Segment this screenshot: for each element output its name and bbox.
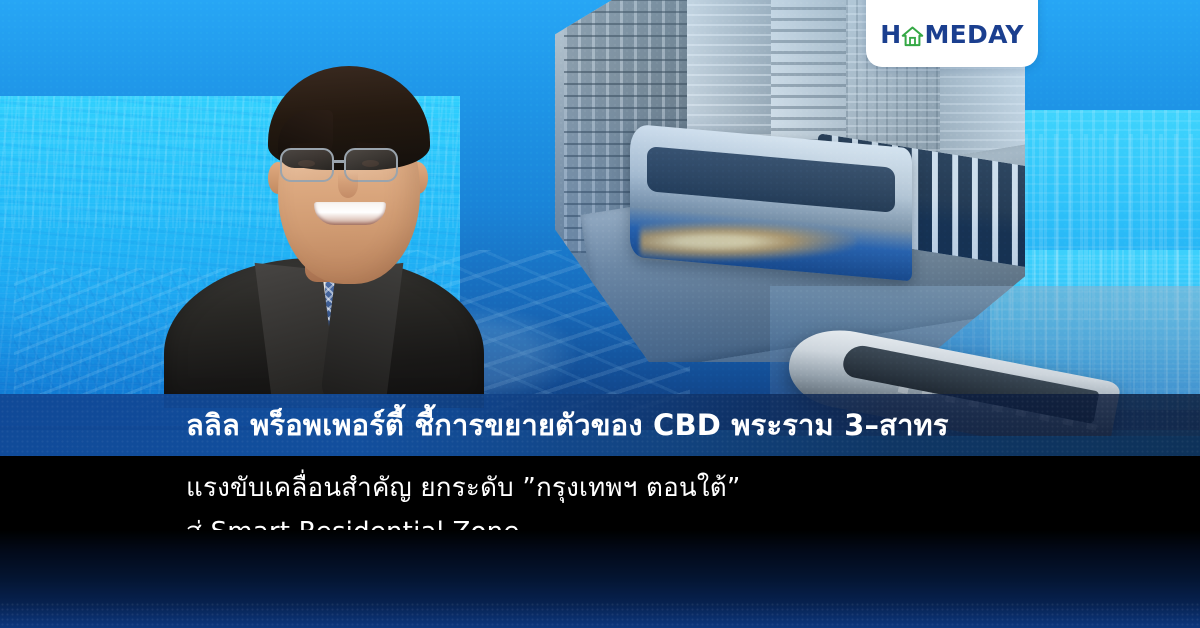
headline-bar: ลลิล พร็อพเพอร์ตี้ ชี้การขยายตัวของ CBD … [0,394,1200,456]
portrait-body [168,196,474,406]
bottom-gradient-accent [0,530,1200,628]
nose [338,172,358,198]
headline-text: ลลิล พร็อพเพอร์ตี้ ชี้การขยายตัวของ CBD … [186,411,949,440]
eyeglasses-lens-left [280,148,334,182]
homeday-logo-badge[interactable]: H MEDAY [866,0,1038,67]
logo-text-before: H [880,22,901,47]
eyeglasses-bridge [334,160,346,163]
homeday-logo: H MEDAY [880,22,1024,47]
subheadline-line-1: แรงขับเคลื่อนสำคัญ ยกระดับ ”กรุงเทพฯ ตอน… [186,466,741,510]
news-banner: H MEDAY ลลิล พร็อพเพอร์ตี้ ชี้การขยายตัว… [0,0,1200,628]
smile [314,202,386,225]
house-icon [901,25,924,48]
logo-text-after: MEDAY [924,22,1023,47]
businessman-portrait-image [150,0,490,400]
